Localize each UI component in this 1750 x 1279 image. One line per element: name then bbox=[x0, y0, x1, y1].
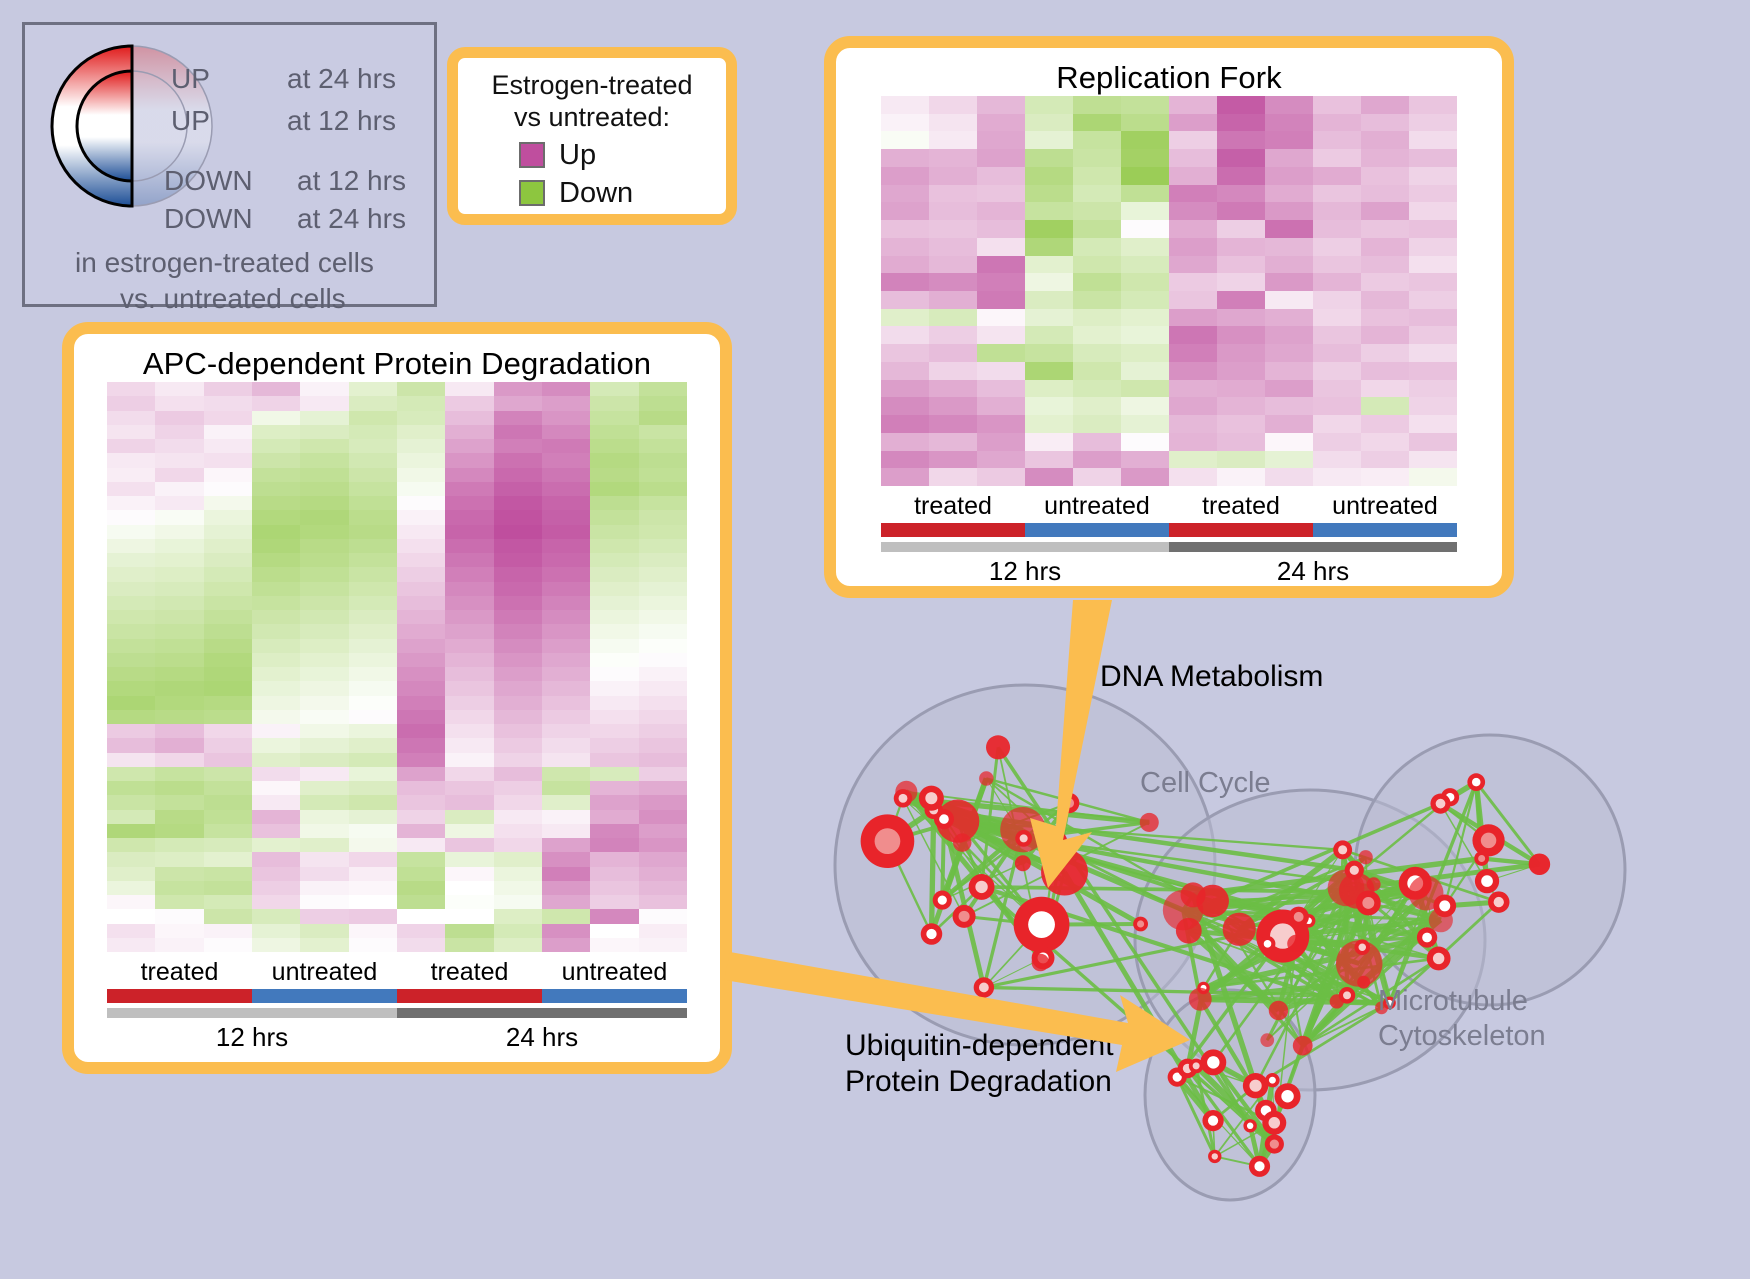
timepoint-bars-apc bbox=[107, 1008, 687, 1018]
heatmap-cell bbox=[155, 824, 203, 838]
heatmap-cell bbox=[397, 639, 445, 653]
heatmap-cell bbox=[977, 220, 1025, 238]
heatmap-cell bbox=[1361, 451, 1409, 469]
heatmap-cell bbox=[300, 696, 348, 710]
heatmap-cell bbox=[542, 510, 590, 524]
heatmap-cell bbox=[1217, 238, 1265, 256]
heatmap-cell bbox=[155, 795, 203, 809]
heatmap-cell bbox=[494, 453, 542, 467]
heatmap-cell bbox=[397, 767, 445, 781]
heatmap-cell bbox=[1313, 397, 1361, 415]
heatmap-cell bbox=[349, 867, 397, 881]
heatmap-cell bbox=[1217, 397, 1265, 415]
heatmap-cell bbox=[1361, 256, 1409, 274]
heatmap-cell bbox=[252, 539, 300, 553]
heatmap-cell bbox=[107, 824, 155, 838]
heatmap-cell bbox=[1169, 273, 1217, 291]
heatmap-cell bbox=[252, 867, 300, 881]
heatmap-cell bbox=[881, 114, 929, 132]
heatmap-cell bbox=[1217, 185, 1265, 203]
key-time-down-24: at 24 hrs bbox=[297, 203, 406, 235]
heatmap-cell bbox=[204, 596, 252, 610]
heatmap-cell bbox=[542, 596, 590, 610]
condition-bar bbox=[252, 989, 397, 1003]
heatmap-cell bbox=[494, 938, 542, 952]
condition-label: treated bbox=[107, 958, 252, 987]
heatmap-cell bbox=[1265, 256, 1313, 274]
heatmap-cell bbox=[639, 753, 687, 767]
heatmap-cell bbox=[1169, 344, 1217, 362]
heatmap-cell bbox=[204, 525, 252, 539]
heatmap-cell bbox=[397, 810, 445, 824]
heatmap-cell bbox=[494, 653, 542, 667]
heatmap-cell bbox=[881, 362, 929, 380]
heatmap-cell bbox=[542, 425, 590, 439]
heatmap-cell bbox=[1409, 238, 1457, 256]
heatmap-cell bbox=[155, 510, 203, 524]
heatmap-cell bbox=[929, 96, 977, 114]
heatmap-cell bbox=[204, 724, 252, 738]
heatmap-cell bbox=[1169, 131, 1217, 149]
heatmap-cell bbox=[252, 382, 300, 396]
heatmap-cell bbox=[1265, 273, 1313, 291]
heatmap-cell bbox=[1169, 238, 1217, 256]
heatmap-cell bbox=[397, 881, 445, 895]
heatmap-cell bbox=[929, 433, 977, 451]
heatmap-cell bbox=[1073, 131, 1121, 149]
heatmap-cell bbox=[107, 852, 155, 866]
heatmap-cell bbox=[252, 667, 300, 681]
heatmap-cell bbox=[1121, 273, 1169, 291]
heatmap-cell bbox=[107, 895, 155, 909]
heatmap-cell bbox=[397, 667, 445, 681]
heatmap-cell bbox=[881, 468, 929, 486]
heatmap-cell bbox=[349, 396, 397, 410]
heatmap-cell bbox=[397, 567, 445, 581]
heatmap-cell bbox=[445, 824, 493, 838]
heatmap-cell bbox=[1409, 131, 1457, 149]
heatmap-cell bbox=[204, 382, 252, 396]
heatmap-cell bbox=[542, 696, 590, 710]
network-node bbox=[1223, 913, 1256, 946]
heatmap-cell bbox=[1169, 149, 1217, 167]
network-node-core bbox=[1270, 1139, 1279, 1148]
heatmap-cell bbox=[977, 149, 1025, 167]
network-node bbox=[1293, 1036, 1313, 1056]
heatmap-cell bbox=[1409, 451, 1457, 469]
color-key-box: UP at 24 hrs UP at 12 hrs DOWN at 12 hrs… bbox=[22, 22, 437, 307]
heatmap-cell bbox=[204, 810, 252, 824]
heatmap-cell bbox=[107, 781, 155, 795]
heatmap-cell bbox=[349, 852, 397, 866]
heatmap-cell bbox=[155, 567, 203, 581]
heatmap-cell bbox=[300, 738, 348, 752]
heatmap-cell bbox=[107, 810, 155, 824]
key-footer-line2: vs. untreated cells bbox=[120, 283, 346, 315]
heatmap-cell bbox=[1073, 114, 1121, 132]
heatmap-cell bbox=[1169, 433, 1217, 451]
heatmap-cell bbox=[929, 149, 977, 167]
network-node bbox=[979, 771, 993, 785]
heatmap-cell bbox=[1265, 468, 1313, 486]
heatmap-cell bbox=[1409, 220, 1457, 238]
heatmap-cell bbox=[977, 96, 1025, 114]
heatmap-cell bbox=[1169, 326, 1217, 344]
heatmap-cell bbox=[881, 380, 929, 398]
heatmap-cell bbox=[252, 824, 300, 838]
condition-label: untreated bbox=[252, 958, 397, 987]
network-node-core bbox=[979, 983, 989, 993]
heatmap-cell bbox=[494, 710, 542, 724]
heatmap-cell bbox=[542, 653, 590, 667]
heatmap-cell bbox=[494, 810, 542, 824]
heatmap-cell bbox=[1313, 256, 1361, 274]
heatmap-cell bbox=[397, 795, 445, 809]
heatmap-cell bbox=[639, 781, 687, 795]
heatmap-cell bbox=[1217, 96, 1265, 114]
heatmap-cell bbox=[107, 710, 155, 724]
heatmap-cell bbox=[300, 439, 348, 453]
heatmap-cell bbox=[1121, 362, 1169, 380]
timepoint-label: 12 hrs bbox=[881, 556, 1169, 587]
heatmap-cell bbox=[252, 681, 300, 695]
heatmap-cell bbox=[204, 867, 252, 881]
condition-label: untreated bbox=[1313, 492, 1457, 521]
heatmap-cell bbox=[1217, 433, 1265, 451]
heatmap-cell bbox=[977, 185, 1025, 203]
network-node bbox=[1032, 954, 1050, 972]
heatmap-cell bbox=[397, 396, 445, 410]
heatmap-replication-fork bbox=[881, 96, 1457, 486]
heatmap-cell bbox=[107, 382, 155, 396]
heatmap-cell bbox=[445, 525, 493, 539]
heatmap-cell bbox=[445, 653, 493, 667]
heatmap-cell bbox=[1217, 362, 1265, 380]
heatmap-cell bbox=[1217, 256, 1265, 274]
heatmap-cell bbox=[397, 738, 445, 752]
network-node bbox=[1269, 1001, 1288, 1020]
heatmap-cell bbox=[155, 468, 203, 482]
heatmap-cell bbox=[1169, 202, 1217, 220]
heatmap-cell bbox=[1025, 256, 1073, 274]
heatmap-cell bbox=[494, 838, 542, 852]
heatmap-cell bbox=[397, 610, 445, 624]
cluster-label-dna-metabolism: DNA Metabolism bbox=[1100, 660, 1323, 694]
heatmap-cell bbox=[445, 881, 493, 895]
heatmap-cell bbox=[155, 482, 203, 496]
heatmap-cell bbox=[1409, 96, 1457, 114]
timepoint-label: 24 hrs bbox=[1169, 556, 1457, 587]
heatmap-cell bbox=[1265, 433, 1313, 451]
heatmap-cell bbox=[639, 425, 687, 439]
heatmap-cell bbox=[977, 433, 1025, 451]
heatmap-cell bbox=[155, 582, 203, 596]
heatmap-cell bbox=[1121, 326, 1169, 344]
heatmap-cell bbox=[639, 453, 687, 467]
heatmap-cell bbox=[590, 724, 638, 738]
heatmap-cell bbox=[1313, 433, 1361, 451]
heatmap-cell bbox=[1313, 185, 1361, 203]
heatmap-cell bbox=[155, 838, 203, 852]
heatmap-cell bbox=[300, 810, 348, 824]
heatmap-cell bbox=[639, 767, 687, 781]
heatmap-cell bbox=[445, 753, 493, 767]
condition-bar bbox=[1313, 523, 1457, 537]
heatmap-cell bbox=[1361, 96, 1409, 114]
heatmap-cell bbox=[349, 510, 397, 524]
heatmap-cell bbox=[155, 539, 203, 553]
heatmap-cell bbox=[494, 510, 542, 524]
heatmap-cell bbox=[1025, 309, 1073, 327]
heatmap-cell bbox=[397, 411, 445, 425]
heatmap-cell bbox=[252, 781, 300, 795]
heatmap-cell bbox=[1217, 451, 1265, 469]
heatmap-cell bbox=[1025, 167, 1073, 185]
heatmap-cell bbox=[1025, 185, 1073, 203]
heatmap-cell bbox=[494, 425, 542, 439]
heatmap-cell bbox=[155, 938, 203, 952]
heatmap-cell bbox=[252, 767, 300, 781]
heatmap-cell bbox=[1121, 185, 1169, 203]
heatmap-cell bbox=[1361, 238, 1409, 256]
heatmap-cell bbox=[494, 696, 542, 710]
heatmap-cell bbox=[397, 824, 445, 838]
heatmap-cell bbox=[639, 724, 687, 738]
heatmap-cell bbox=[349, 453, 397, 467]
network-node-core bbox=[1481, 875, 1493, 887]
condition-bar bbox=[1025, 523, 1169, 537]
heatmap-cell bbox=[397, 653, 445, 667]
heatmap-cell bbox=[397, 439, 445, 453]
heatmap-cell bbox=[1409, 380, 1457, 398]
heatmap-cell bbox=[445, 710, 493, 724]
heatmap-cell bbox=[1121, 167, 1169, 185]
heatmap-cell bbox=[252, 852, 300, 866]
heatmap-cell bbox=[1169, 185, 1217, 203]
heatmap-cell bbox=[590, 411, 638, 425]
heatmap-cell bbox=[1073, 451, 1121, 469]
cluster-label-ubiquitin-protein-degradation: Ubiquitin-dependent Protein Degradation bbox=[845, 1028, 1114, 1100]
heatmap-cell bbox=[542, 924, 590, 938]
heatmap-cell bbox=[1169, 397, 1217, 415]
heatmap-cell bbox=[349, 382, 397, 396]
heatmap-cell bbox=[1265, 202, 1313, 220]
condition-label: treated bbox=[397, 958, 542, 987]
heatmap-cell bbox=[1121, 468, 1169, 486]
heatmap-cell bbox=[1361, 273, 1409, 291]
heatmap-cell bbox=[1409, 362, 1457, 380]
heatmap-cell bbox=[639, 539, 687, 553]
heatmap-cell bbox=[639, 924, 687, 938]
heatmap-cell bbox=[1409, 114, 1457, 132]
heatmap-cell bbox=[1265, 96, 1313, 114]
heatmap-cell bbox=[300, 596, 348, 610]
heatmap-cell bbox=[445, 838, 493, 852]
heatmap-cell bbox=[590, 439, 638, 453]
heatmap-cell bbox=[929, 415, 977, 433]
key-time-down-12: at 12 hrs bbox=[297, 165, 406, 197]
network-node-core bbox=[1362, 897, 1374, 909]
heatmap-cell bbox=[590, 468, 638, 482]
key-time-up-12: at 12 hrs bbox=[287, 105, 396, 137]
heatmap-cell bbox=[977, 273, 1025, 291]
heatmap-cell bbox=[445, 696, 493, 710]
network-node-core bbox=[1436, 799, 1446, 809]
heatmap-cell bbox=[929, 326, 977, 344]
timepoint-bar bbox=[1169, 542, 1457, 552]
heatmap-cell bbox=[542, 909, 590, 923]
heatmap-cell bbox=[204, 624, 252, 638]
cluster-label-cell-cycle: Cell Cycle bbox=[1140, 767, 1271, 800]
heatmap-cell bbox=[349, 567, 397, 581]
heatmap-cell bbox=[542, 439, 590, 453]
heatmap-cell bbox=[1313, 326, 1361, 344]
heatmap-cell bbox=[542, 824, 590, 838]
network-node-core bbox=[1137, 920, 1144, 927]
heatmap-cell bbox=[1409, 167, 1457, 185]
heatmap-cell bbox=[977, 238, 1025, 256]
heatmap-cell bbox=[881, 149, 929, 167]
heatmap-cell bbox=[1313, 344, 1361, 362]
heatmap-cell bbox=[397, 496, 445, 510]
heatmap-cell bbox=[107, 753, 155, 767]
network-node-core bbox=[1212, 1153, 1218, 1159]
heatmap-cell bbox=[107, 553, 155, 567]
heatmap-cell bbox=[1025, 326, 1073, 344]
heatmap-cell bbox=[590, 525, 638, 539]
heatmap-cell bbox=[107, 539, 155, 553]
heatmap-cell bbox=[204, 881, 252, 895]
key-direction-down-24: DOWN bbox=[164, 203, 253, 235]
heatmap-cell bbox=[300, 425, 348, 439]
heatmap-cell bbox=[494, 411, 542, 425]
heatmap-cell bbox=[397, 781, 445, 795]
heatmap-cell bbox=[1121, 415, 1169, 433]
heatmap-cell bbox=[1121, 291, 1169, 309]
heatmap-cell bbox=[494, 567, 542, 581]
heatmap-cell bbox=[107, 838, 155, 852]
heatmap-cell bbox=[639, 468, 687, 482]
heatmap-cell bbox=[977, 309, 1025, 327]
heatmap-cell bbox=[397, 525, 445, 539]
heatmap-cell bbox=[107, 639, 155, 653]
heatmap-cell bbox=[542, 795, 590, 809]
heatmap-cell bbox=[204, 667, 252, 681]
network-node-core bbox=[1294, 912, 1304, 922]
heatmap-cell bbox=[639, 867, 687, 881]
heatmap-cell bbox=[494, 852, 542, 866]
heatmap-cell bbox=[445, 510, 493, 524]
heatmap-cell bbox=[1265, 326, 1313, 344]
heatmap-cell bbox=[494, 795, 542, 809]
heatmap-cell bbox=[542, 610, 590, 624]
heatmap-cell bbox=[300, 938, 348, 952]
condition-label: treated bbox=[881, 492, 1025, 521]
heatmap-cell bbox=[107, 924, 155, 938]
heatmap-cell bbox=[107, 468, 155, 482]
heatmap-cell bbox=[204, 510, 252, 524]
heatmap-cell bbox=[590, 710, 638, 724]
heatmap-cell bbox=[155, 639, 203, 653]
network-node-core bbox=[1478, 855, 1485, 862]
heatmap-cell bbox=[107, 396, 155, 410]
heatmap-cell bbox=[300, 653, 348, 667]
heatmap-cell bbox=[929, 344, 977, 362]
cluster-label-microtubule-cytoskeleton: Microtubule Cytoskeleton bbox=[1378, 984, 1546, 1054]
heatmap-cell bbox=[1313, 291, 1361, 309]
heatmap-cell bbox=[494, 624, 542, 638]
heatmap-cell bbox=[155, 738, 203, 752]
heatmap-cell bbox=[1121, 256, 1169, 274]
heatmap-cell bbox=[397, 582, 445, 596]
heatmap-cell bbox=[1073, 415, 1121, 433]
heatmap-cell bbox=[155, 610, 203, 624]
heatmap-cell bbox=[445, 667, 493, 681]
heatmap-cell bbox=[590, 753, 638, 767]
heatmap-cell bbox=[300, 453, 348, 467]
heatmap-cell bbox=[1073, 309, 1121, 327]
heatmap-cell bbox=[494, 396, 542, 410]
condition-bars-replication-fork bbox=[881, 523, 1457, 537]
heatmap-cell bbox=[1361, 131, 1409, 149]
heatmap-cell bbox=[590, 596, 638, 610]
heatmap-cell bbox=[252, 724, 300, 738]
network-node-core bbox=[925, 792, 937, 804]
heatmap-cell bbox=[445, 382, 493, 396]
heatmap-cell bbox=[639, 510, 687, 524]
heatmap-cell bbox=[639, 909, 687, 923]
heatmap-cell bbox=[445, 396, 493, 410]
heatmap-cell bbox=[494, 753, 542, 767]
heatmap-cell bbox=[204, 482, 252, 496]
heatmap-cell bbox=[445, 639, 493, 653]
heatmap-cell bbox=[204, 582, 252, 596]
condition-bar bbox=[1169, 523, 1313, 537]
heatmap-cell bbox=[590, 867, 638, 881]
heatmap-cell bbox=[252, 567, 300, 581]
heatmap-cell bbox=[1361, 468, 1409, 486]
heatmap-cell bbox=[1265, 380, 1313, 398]
heatmap-cell bbox=[1025, 397, 1073, 415]
heatmap-cell bbox=[300, 539, 348, 553]
heatmap-cell bbox=[445, 539, 493, 553]
heatmap-cell bbox=[1409, 202, 1457, 220]
heatmap-cell bbox=[929, 380, 977, 398]
condition-labels-replication-fork: treateduntreatedtreateduntreated bbox=[881, 492, 1457, 521]
heatmap-cell bbox=[542, 895, 590, 909]
heatmap-cell bbox=[590, 567, 638, 581]
heatmap-cell bbox=[590, 824, 638, 838]
heatmap-cell bbox=[494, 781, 542, 795]
heatmap-cell bbox=[977, 362, 1025, 380]
network-node-core bbox=[1343, 991, 1351, 999]
heatmap-cell bbox=[542, 382, 590, 396]
heatmap-cell bbox=[349, 525, 397, 539]
heatmap-cell bbox=[1121, 451, 1169, 469]
heatmap-cell bbox=[1361, 309, 1409, 327]
heatmap-cell bbox=[1265, 185, 1313, 203]
heatmap-cell bbox=[155, 396, 203, 410]
heatmap-cell bbox=[929, 114, 977, 132]
heatmap-cell bbox=[252, 496, 300, 510]
heatmap-cell bbox=[1025, 468, 1073, 486]
heatmap-cell bbox=[300, 624, 348, 638]
heatmap-cell bbox=[252, 468, 300, 482]
heatmap-cell bbox=[1265, 149, 1313, 167]
heatmap-cell bbox=[542, 710, 590, 724]
heatmap-cell bbox=[1169, 415, 1217, 433]
heatmap-cell bbox=[639, 482, 687, 496]
